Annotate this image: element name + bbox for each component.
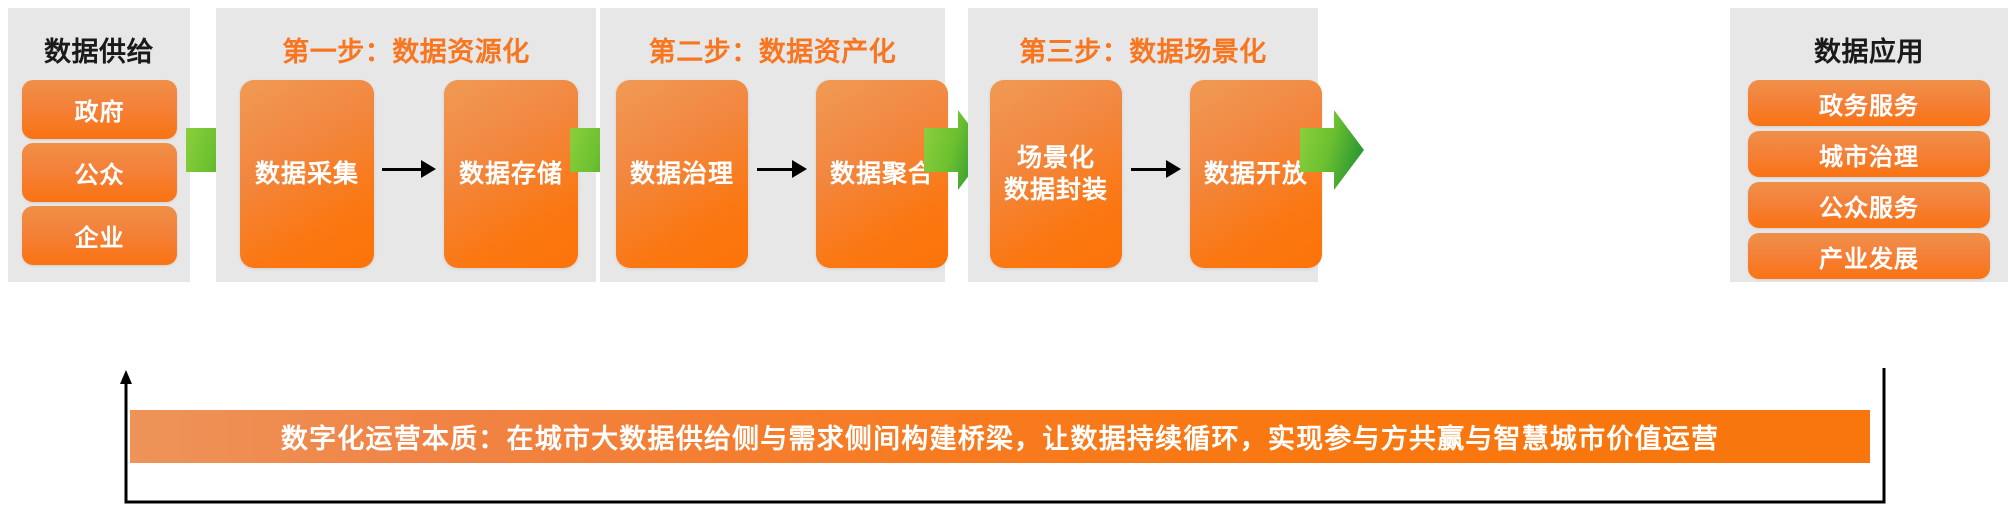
step1-box-data-collection[interactable]: 数据采集 xyxy=(240,80,374,268)
step3-box-label-line1: 场景化 xyxy=(1017,144,1095,172)
panel-data-application: 数据应用 政务服务 城市治理 公众服务 产业发展 xyxy=(1730,8,2008,282)
panel-title-step-2: 第二步：数据资产化 xyxy=(600,30,945,69)
arrow-right-icon-step1 xyxy=(382,158,436,180)
step1-box-label: 数据采集 xyxy=(255,158,359,190)
panel-title-data-application: 数据应用 xyxy=(1730,30,2008,69)
panel-data-supply: 数据供给 政府 公众 企业 xyxy=(8,8,190,282)
panel-title-step-1: 第一步：数据资源化 xyxy=(216,30,596,69)
application-item-label: 公众服务 xyxy=(1819,188,1919,223)
application-item-urban-governance[interactable]: 城市治理 xyxy=(1748,131,1990,177)
panel-step-1: 第一步：数据资源化 数据采集 数据存储 xyxy=(216,8,596,282)
supply-item-government[interactable]: 政府 xyxy=(22,80,177,139)
arrow-head xyxy=(1166,160,1181,178)
arrow-shaft xyxy=(757,168,792,171)
supply-item-public[interactable]: 公众 xyxy=(22,143,177,202)
step3-box-label-line2: 数据封装 xyxy=(1004,176,1108,204)
arrow-shaft xyxy=(1131,168,1166,171)
arrow-shaft xyxy=(382,168,421,171)
diagram-canvas: 数据供给 政府 公众 企业 第一步：数据资源化 数据采集 xyxy=(0,0,2016,520)
application-item-government-services[interactable]: 政务服务 xyxy=(1748,80,1990,126)
panel-step-3: 第三步：数据场景化 场景化 数据封装 数据开放 xyxy=(968,8,1318,282)
supply-item-enterprise[interactable]: 企业 xyxy=(22,206,177,265)
panel-title-step-3: 第三步：数据场景化 xyxy=(968,30,1318,69)
step2-box-data-governance[interactable]: 数据治理 xyxy=(616,80,748,268)
application-item-label: 政务服务 xyxy=(1819,86,1919,121)
application-item-public-services[interactable]: 公众服务 xyxy=(1748,182,1990,228)
panel-title-data-supply: 数据供给 xyxy=(8,30,190,69)
summary-banner: 数字化运营本质：在城市大数据供给侧与需求侧间构建桥梁，让数据持续循环，实现参与方… xyxy=(130,410,1870,463)
application-item-label: 城市治理 xyxy=(1819,137,1919,172)
summary-banner-text: 数字化运营本质：在城市大数据供给侧与需求侧间构建桥梁，让数据持续循环，实现参与方… xyxy=(281,417,1719,456)
application-item-label: 产业发展 xyxy=(1819,239,1919,274)
green-arrow-icon-4 xyxy=(1300,110,1364,190)
arrow-head xyxy=(792,160,807,178)
step1-box-label: 数据存储 xyxy=(459,158,563,190)
step2-box-label: 数据治理 xyxy=(630,158,734,190)
arrow-right-icon-step2 xyxy=(757,158,807,180)
supply-item-label: 企业 xyxy=(75,218,125,253)
arrow-head xyxy=(421,160,436,178)
step3-box-label: 场景化 数据封装 xyxy=(1004,142,1108,206)
feedback-loop-arrow-icon xyxy=(110,286,1900,512)
step1-box-data-storage[interactable]: 数据存储 xyxy=(444,80,578,268)
panel-step-2: 第二步：数据资产化 数据治理 数据聚合 xyxy=(600,8,945,282)
step3-box-label: 数据开放 xyxy=(1204,158,1308,190)
step3-box-scenario-packaging[interactable]: 场景化 数据封装 xyxy=(990,80,1122,268)
supply-item-label: 公众 xyxy=(75,155,125,190)
arrow-right-icon-step3 xyxy=(1131,158,1181,180)
application-item-industry-development[interactable]: 产业发展 xyxy=(1748,233,1990,279)
step2-box-label: 数据聚合 xyxy=(830,158,934,190)
supply-item-label: 政府 xyxy=(75,92,125,127)
